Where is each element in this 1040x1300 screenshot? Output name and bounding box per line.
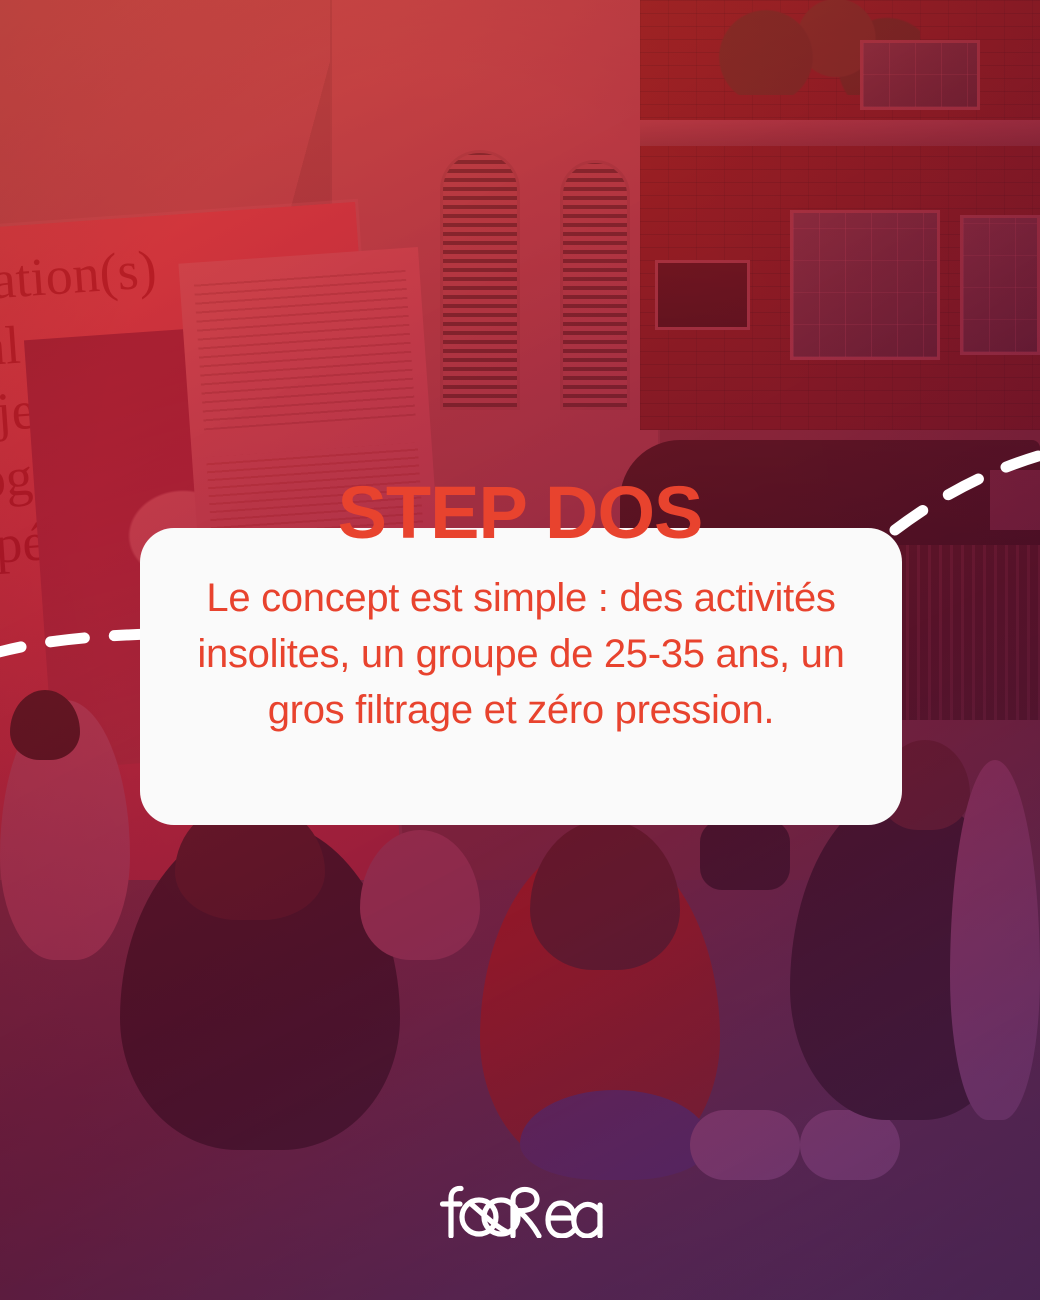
brand-logo: foReal: [0, 1184, 1040, 1238]
slide-canvas: ulation(s) val a jeu togr opée: [0, 0, 1040, 1300]
card-body-text: Le concept est simple : des activités in…: [176, 570, 866, 738]
foreal-logo-icon: [435, 1184, 605, 1238]
page-title: STEP DOS: [0, 476, 1040, 550]
content-card: Le concept est simple : des activités in…: [140, 528, 902, 825]
